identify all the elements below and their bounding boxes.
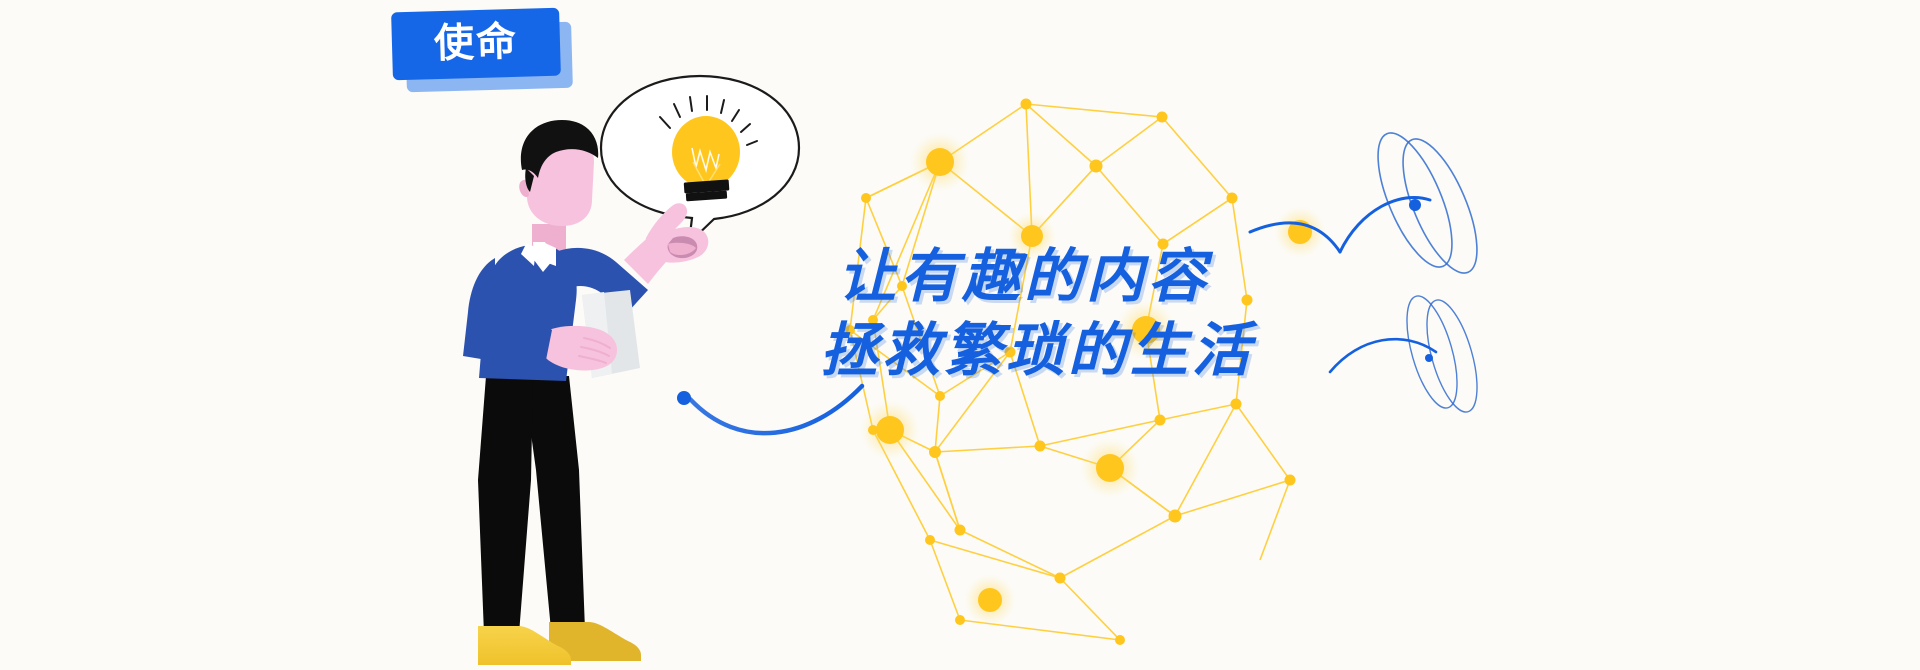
bulb-base	[684, 179, 730, 201]
mission-badge: 使命	[392, 8, 572, 92]
leg-back	[523, 376, 585, 630]
leg-front	[478, 376, 533, 634]
badge-plate: 使命	[391, 8, 561, 81]
idea-bubble	[601, 76, 799, 243]
bulb-glass	[672, 116, 740, 188]
headline: 让有趣的内容 拯救繁琐的生活	[838, 240, 1398, 388]
accent-curve	[690, 386, 862, 433]
orbit-dot-upper	[1409, 199, 1421, 211]
badge-label: 使命	[433, 22, 518, 64]
headline-line-2: 拯救繁琐的生活	[820, 314, 1398, 388]
orbit-dot-lower	[1425, 354, 1433, 362]
accent-curve-dot	[677, 391, 691, 405]
mission-banner: 使命 让有趣的内容 拯救繁琐的生活	[0, 0, 1920, 670]
jacket-cuff	[510, 324, 552, 362]
headline-line-1: 让有趣的内容	[838, 240, 1398, 314]
orbit-rings-lower	[1397, 291, 1487, 418]
